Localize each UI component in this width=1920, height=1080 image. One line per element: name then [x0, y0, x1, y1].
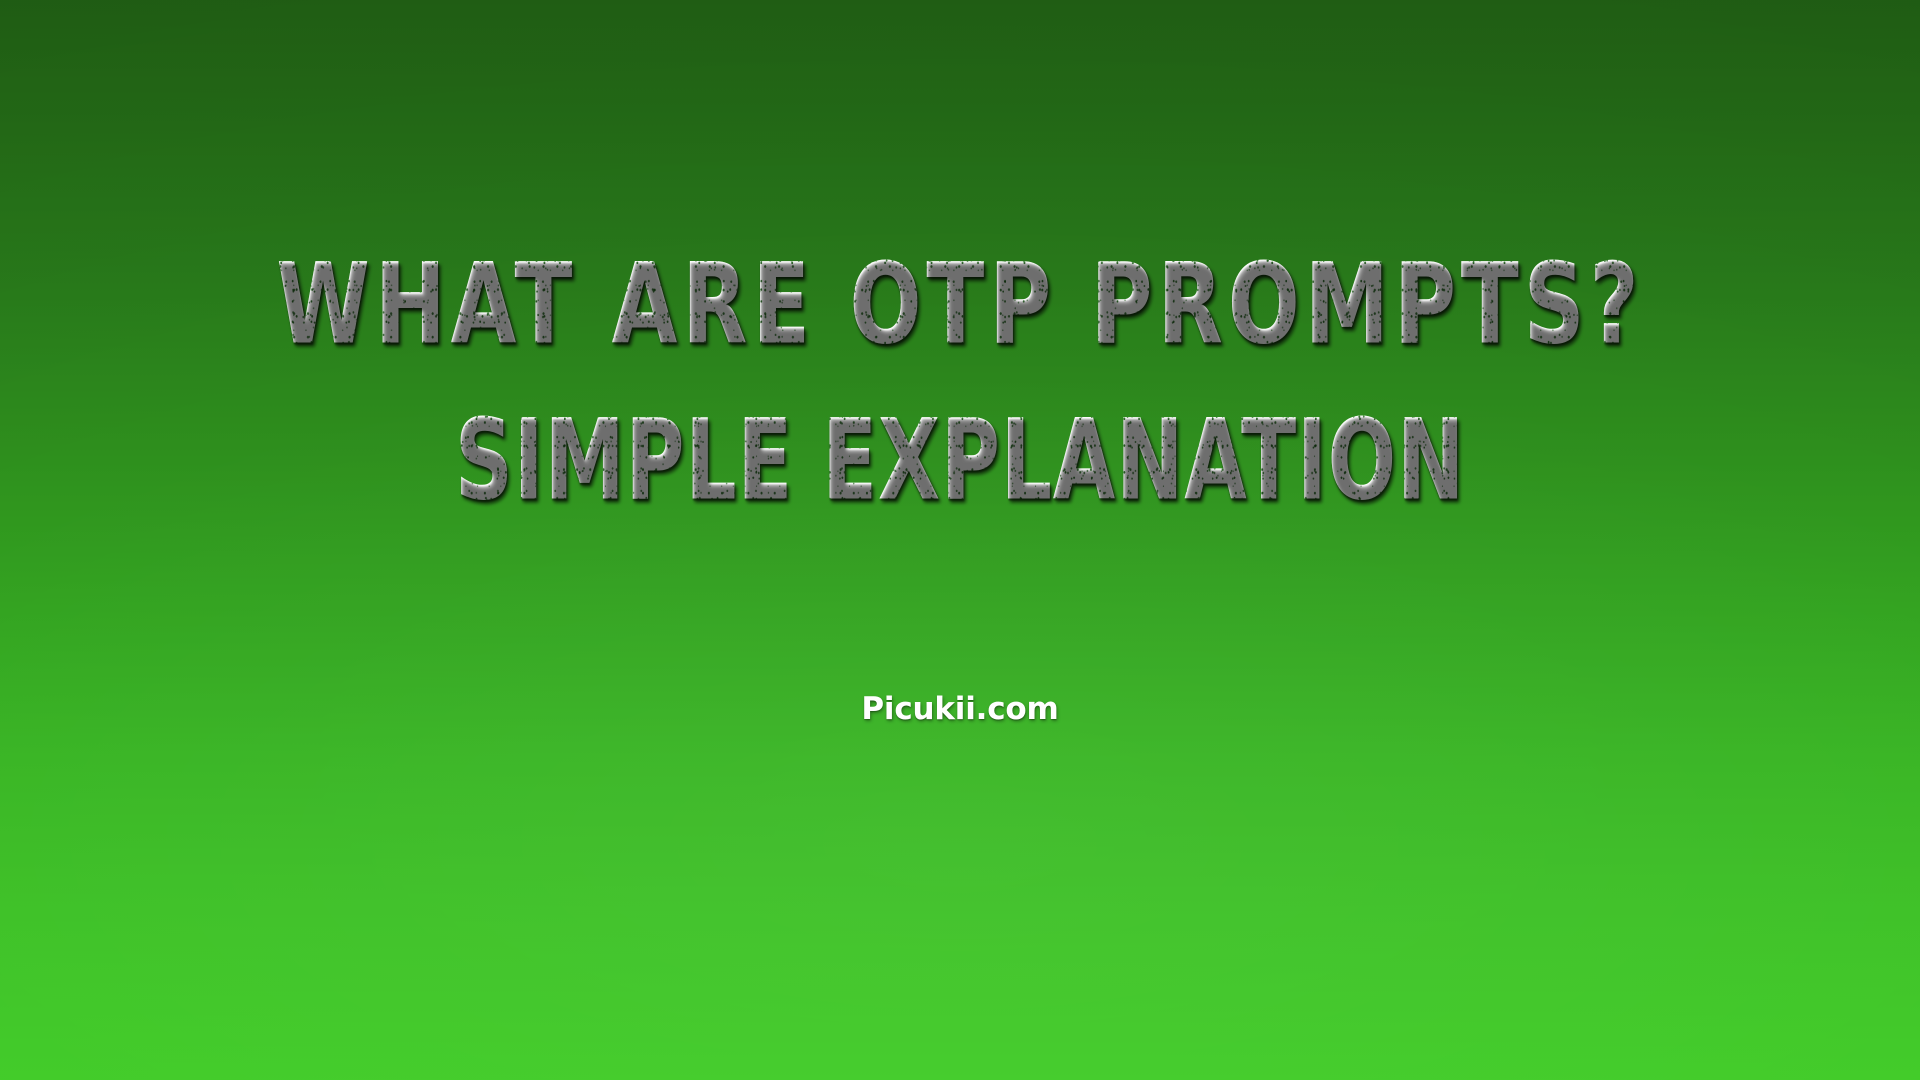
watermark-site-name: Picukii.com	[861, 693, 1058, 726]
headline-line-1: What Are OTP Prompts?What Are OTP Prompt…	[178, 248, 1743, 366]
poster-canvas: What Are OTP Prompts?What Are OTP Prompt…	[0, 0, 1920, 1080]
headline-line-1-grunge-texture: What Are OTP Prompts?	[178, 248, 1743, 366]
headline-line-2: Simple ExplanationSimple Explanation	[216, 404, 1704, 522]
headline-block: What Are OTP Prompts?What Are OTP Prompt…	[0, 252, 1920, 518]
watermark-block: Picukii.com	[0, 693, 1920, 726]
headline-line-2-grunge-texture: Simple Explanation	[216, 404, 1704, 522]
